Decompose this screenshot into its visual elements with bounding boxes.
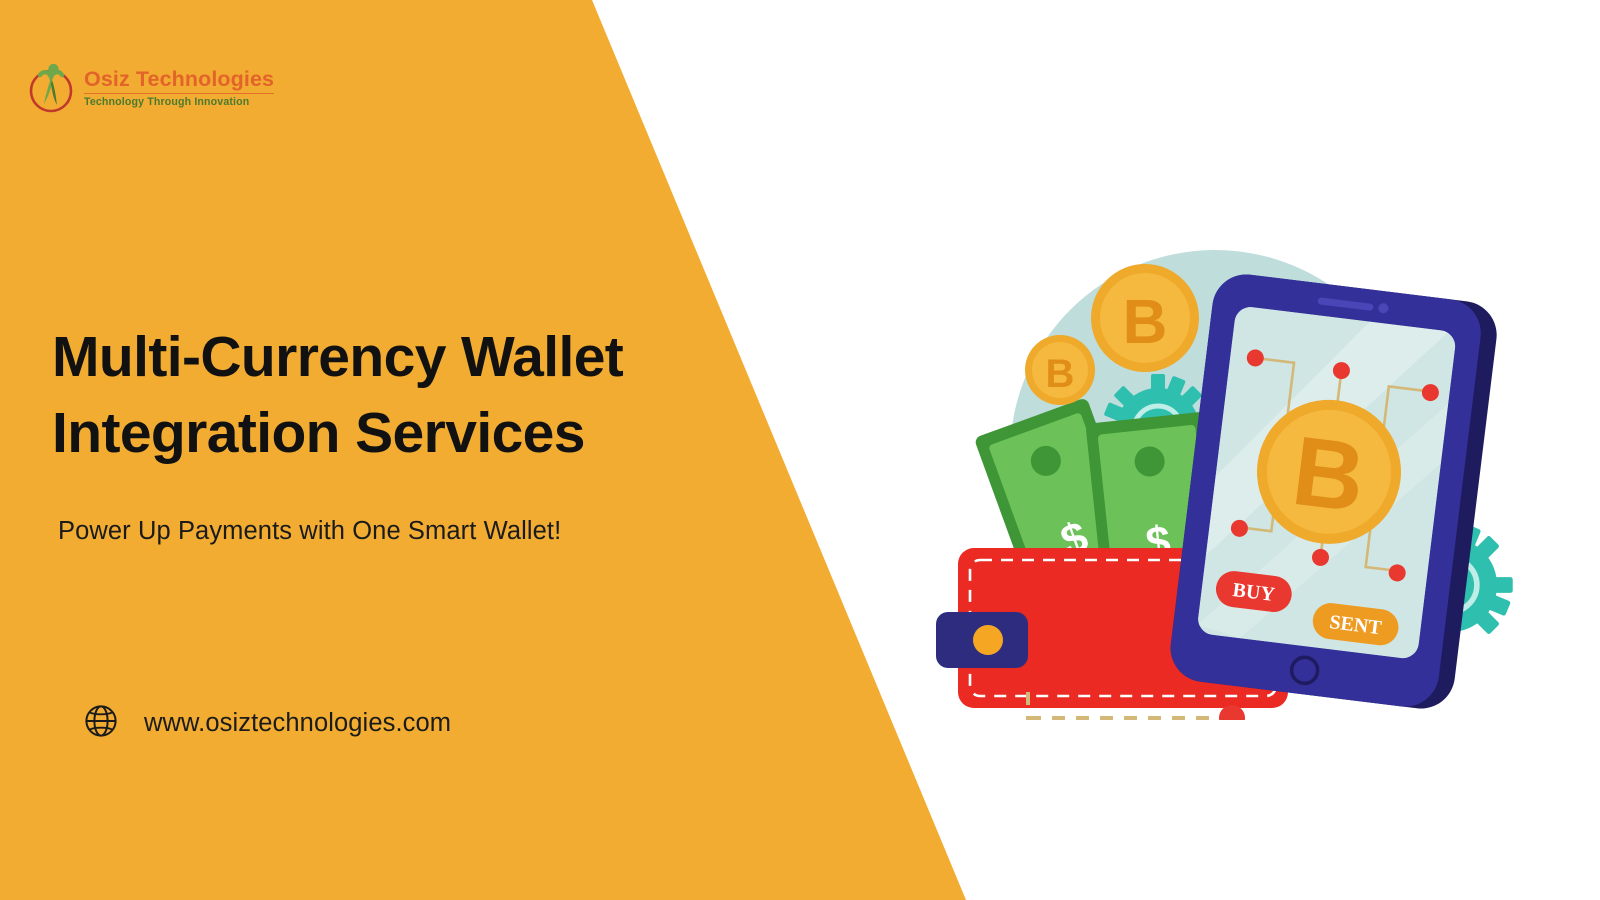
bitcoin-coin-small: B [1025,335,1095,405]
website-url[interactable]: www.osiztechnologies.com [144,709,451,738]
logo-wordmark: Osiz Technologies Technology Through Inn… [84,68,274,108]
page-title: Multi-Currency Wallet Integration Servic… [52,320,752,472]
company-logo[interactable]: Osiz Technologies Technology Through Inn… [28,52,268,124]
logo-company-name: Osiz Technologies [84,68,274,91]
logo-tagline: Technology Through Innovation [84,96,274,108]
wallet-clasp-button [973,625,1003,655]
subheading: Power Up Payments with One Smart Wallet! [58,517,778,546]
website-row[interactable]: www.osiztechnologies.com [84,704,451,743]
person-in-circle-logo-icon [28,57,78,119]
marketing-banner: Osiz Technologies Technology Through Inn… [0,0,1600,900]
logo-divider [84,93,274,94]
svg-text:B: B [1046,352,1075,396]
bitcoin-coin-large: B [1091,264,1199,372]
svg-text:B: B [1287,415,1371,533]
globe-icon [84,704,118,743]
crypto-wallet-mobile-illustration: $ $ B B [930,240,1530,720]
headline-line-2: Integration Services [52,396,752,472]
headline-line-1: Multi-Currency Wallet [52,320,752,396]
mobile-phone: B BUY SENT [1167,271,1501,713]
svg-text:B: B [1123,288,1168,357]
